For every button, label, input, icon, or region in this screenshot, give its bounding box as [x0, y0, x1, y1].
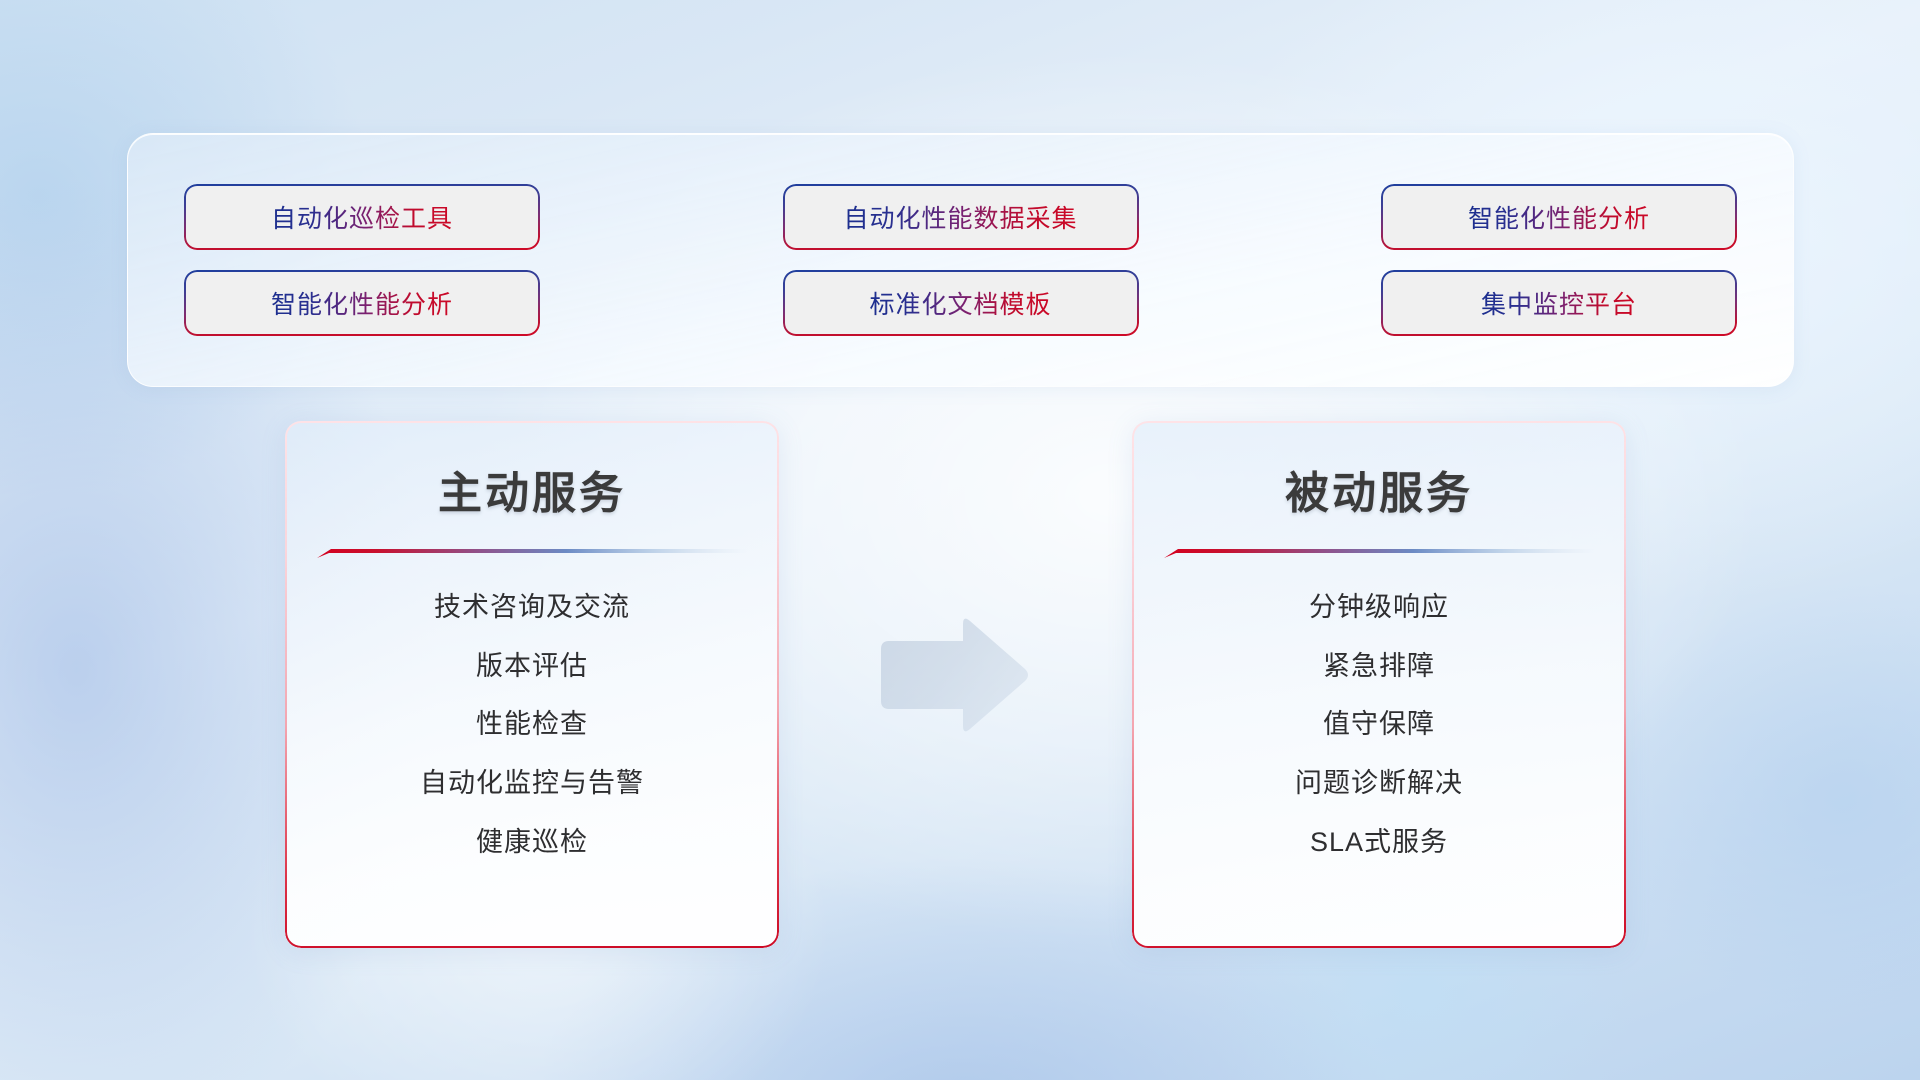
list-item: 版本评估: [476, 642, 588, 692]
service-card-reactive: 被动服务 分钟级响应 紧急排障 值守保障 问题诊断解决 SLA式服务: [1132, 421, 1626, 948]
list-item: 健康巡检: [476, 818, 588, 868]
capability-tag-label: 智能化性能分析: [1468, 199, 1650, 235]
list-item: 技术咨询及交流: [434, 583, 630, 633]
capability-tag-centralized-monitoring-platform[interactable]: 集中监控平台: [1381, 270, 1737, 336]
capability-tag-label: 自动化巡检工具: [271, 199, 453, 235]
capability-tag-intelligent-performance-analysis[interactable]: 智能化性能分析: [1381, 184, 1737, 250]
arrow-right-icon: [873, 615, 1033, 735]
list-item: 问题诊断解决: [1295, 759, 1463, 809]
capability-tag-label: 智能化性能分析: [271, 285, 453, 321]
service-list-proactive: 技术咨询及交流 版本评估 性能检查 自动化监控与告警 健康巡检: [285, 583, 779, 867]
list-item: 分钟级响应: [1309, 583, 1449, 633]
service-card-proactive: 主动服务 技术咨询及交流 版本评估 性能检查 自动化监控与告警 健康巡检: [285, 421, 779, 948]
capability-tag-intelligent-performance-analysis-2[interactable]: 智能化性能分析: [184, 270, 540, 336]
capability-tag-standardized-document-template[interactable]: 标准化文档模板: [783, 270, 1139, 336]
list-item: 性能检查: [476, 700, 588, 750]
list-item: 值守保障: [1323, 700, 1435, 750]
capability-tag-label: 集中监控平台: [1481, 285, 1637, 321]
capability-tag-automated-inspection-tool[interactable]: 自动化巡检工具: [184, 184, 540, 250]
capability-tag-automated-performance-data-collection[interactable]: 自动化性能数据采集: [783, 184, 1139, 250]
capability-tag-label: 标准化文档模板: [869, 285, 1051, 321]
capability-tag-label: 自动化性能数据采集: [843, 199, 1077, 235]
service-list-reactive: 分钟级响应 紧急排障 值守保障 问题诊断解决 SLA式服务: [1132, 583, 1626, 867]
capability-row-1: 自动化巡检工具 自动化性能数据采集 智能化性能分析: [184, 184, 1737, 250]
card-divider-icon: [317, 547, 747, 563]
list-item: 紧急排障: [1323, 642, 1435, 692]
card-title: 被动服务: [1132, 457, 1626, 521]
list-item: 自动化监控与告警: [420, 759, 644, 809]
card-divider-icon: [1164, 547, 1594, 563]
capability-row-2: 智能化性能分析 标准化文档模板 集中监控平台: [184, 270, 1737, 336]
card-title: 主动服务: [285, 457, 779, 521]
capability-panel: 自动化巡检工具 自动化性能数据采集 智能化性能分析 智能化性能分析 标准化文档模…: [127, 133, 1794, 387]
list-item: SLA式服务: [1310, 818, 1448, 868]
